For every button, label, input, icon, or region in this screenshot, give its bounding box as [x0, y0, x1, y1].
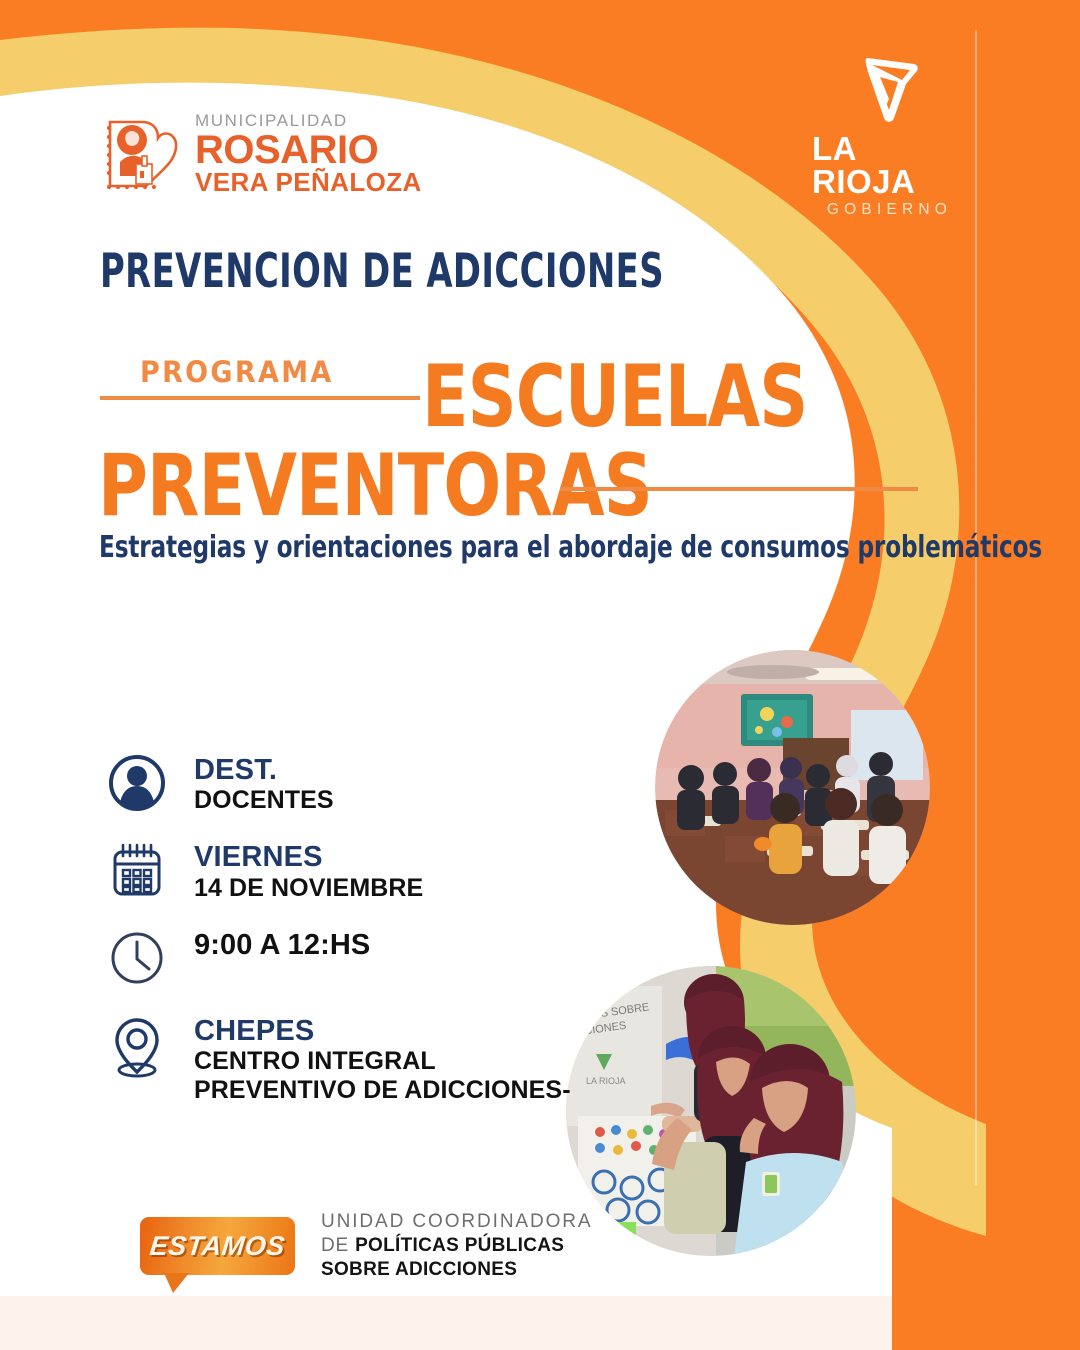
info-row-location: CHEPES CENTRO INTEGRAL PREVENTIVO DE ADI… — [104, 1013, 574, 1105]
government-logo: LA RIOJA GOBIERNO — [812, 52, 967, 218]
unidad-coordinadora-block: UNIDAD COORDINADORA DE POLÍTICAS PÚBLICA… — [321, 1210, 593, 1282]
students-activity-board-photo: ULAS SOBRE ICCIONES LA RIOJA — [566, 966, 856, 1256]
municipality-line1: MUNICIPALIDAD — [195, 112, 422, 129]
clock-icon — [104, 927, 170, 987]
date-value: 14 DE NOVIEMBRE — [194, 874, 423, 903]
unidad-line2-prefix: DE — [321, 1235, 355, 1256]
info-row-audience: DEST. DOCENTES — [104, 752, 574, 815]
heart-shield-portrait-church-emblem — [102, 114, 182, 194]
municipality-logo: MUNICIPALIDAD ROSARIO VERA PEÑALOZA — [102, 112, 422, 197]
estamos-bubble-tail — [164, 1273, 189, 1293]
classroom-workshop-photo — [655, 650, 930, 925]
date-day-title: VIERNES — [194, 841, 423, 873]
person-avatar-icon — [104, 752, 170, 812]
page-kicker: PREVENCION DE ADICCIONES — [100, 248, 664, 295]
vertical-divider-rule — [975, 30, 977, 1185]
location-venue-line1: CENTRO INTEGRAL — [194, 1047, 571, 1076]
municipality-line3: VERA PEÑALOZA — [195, 169, 422, 196]
calendar-icon — [104, 839, 170, 899]
svg-text:LA RIOJA: LA RIOJA — [586, 1076, 626, 1086]
unidad-line2-bold: POLÍTICAS PÚBLICAS — [355, 1235, 564, 1256]
info-row-time: 9:00 A 12:HS — [104, 927, 574, 987]
info-row-date: VIERNES 14 DE NOVIEMBRE — [104, 839, 574, 902]
municipality-line2: ROSARIO — [195, 131, 422, 169]
event-info-list: DEST. DOCENTES — [104, 752, 574, 1131]
page-subtitle: Estrategias y orientaciones para el abor… — [99, 530, 1042, 565]
location-city: CHEPES — [194, 1015, 571, 1047]
government-subtitle: GOBIERNO — [827, 202, 952, 218]
headline-underline-rule — [560, 487, 918, 491]
la-rioja-folded-triangle-mark — [854, 52, 926, 126]
audience-value: DOCENTES — [194, 786, 334, 815]
program-label: PROGRAMA — [140, 355, 334, 389]
unidad-line1: UNIDAD COORDINADORA — [321, 1210, 593, 1234]
estamos-logo: ESTAMOS — [140, 1217, 295, 1275]
headline-line-1: ESCUELAS — [422, 358, 807, 437]
estamos-label: ESTAMOS — [137, 1217, 298, 1275]
program-underline-rule — [100, 396, 420, 400]
location-venue-line2: PREVENTIVO DE ADICCIONES- — [194, 1076, 571, 1105]
footer-branding: ESTAMOS UNIDAD COORDINADORA DE POLÍTICAS… — [140, 1210, 593, 1282]
unidad-line2: DE POLÍTICAS PÚBLICAS — [321, 1234, 593, 1258]
audience-title: DEST. — [194, 754, 334, 786]
poster-canvas: MUNICIPALIDAD ROSARIO VERA PEÑALOZA LA R… — [0, 0, 1080, 1350]
time-value: 9:00 A 12:HS — [194, 929, 370, 963]
government-name: LA RIOJA — [812, 132, 967, 198]
map-pin-icon — [104, 1013, 170, 1079]
unidad-line3: SOBRE ADICCIONES — [321, 1258, 593, 1282]
